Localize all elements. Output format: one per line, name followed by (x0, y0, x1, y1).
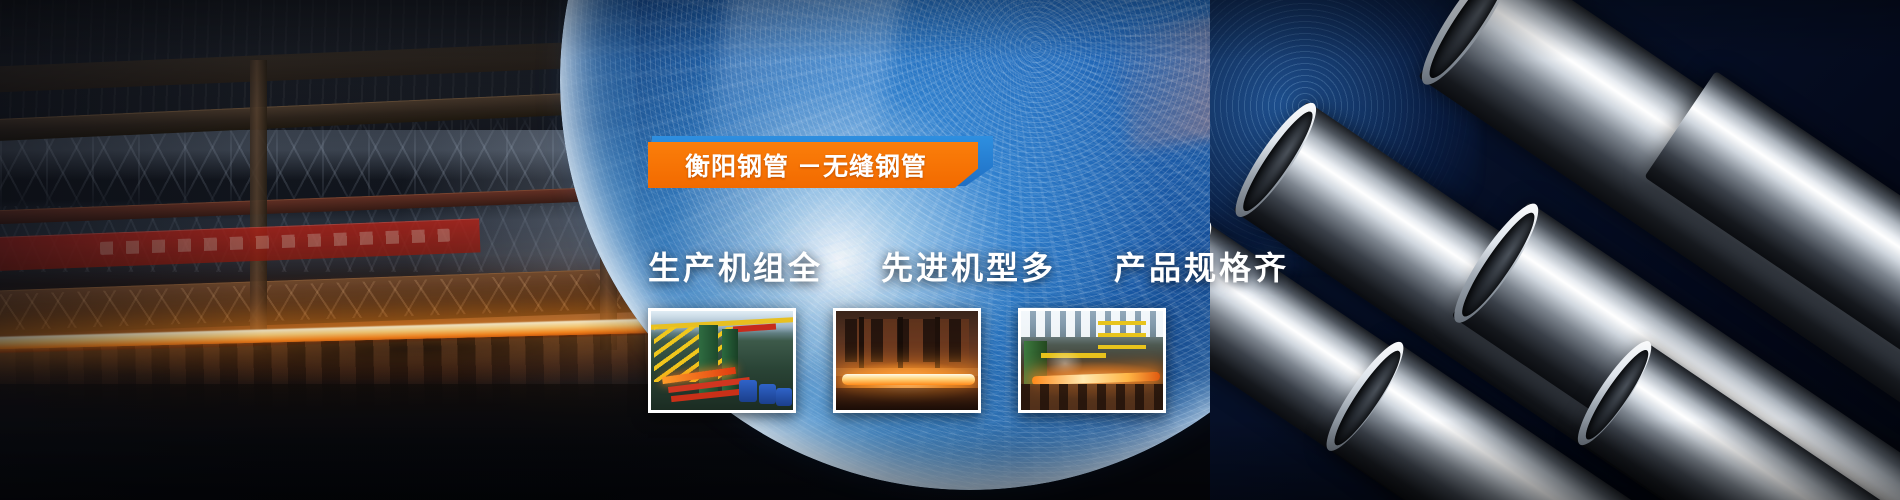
headline-part-2: 先进机型多 (881, 243, 1056, 289)
thumbnail-hot-billet-furnace[interactable] (833, 308, 981, 413)
thumbnail-image (1021, 311, 1163, 410)
headline: 生产机组全 先进机型多 产品规格齐 (648, 243, 1289, 289)
thumbnail-rolling-mill-line[interactable] (648, 308, 796, 413)
headline-part-1: 生产机组全 (648, 243, 823, 289)
brand-tab-orange: 衡阳钢管 －无缝钢管 (648, 142, 978, 188)
brand-tab-label: 衡阳钢管 －无缝钢管 (685, 147, 941, 183)
brand-tab[interactable]: 衡阳钢管 －无缝钢管 (648, 136, 993, 188)
steel-pipes-image (1210, 0, 1900, 500)
thumbnail-strip (648, 308, 1166, 413)
thumbnail-image (651, 311, 793, 410)
headline-part-3: 产品规格齐 (1114, 243, 1289, 289)
thumbnail-image (836, 311, 978, 410)
thumbnail-steel-plant-hot-bar[interactable] (1018, 308, 1166, 413)
hero-banner: 衡阳钢管 －无缝钢管 生产机组全 先进机型多 产品规格齐 (0, 0, 1900, 500)
